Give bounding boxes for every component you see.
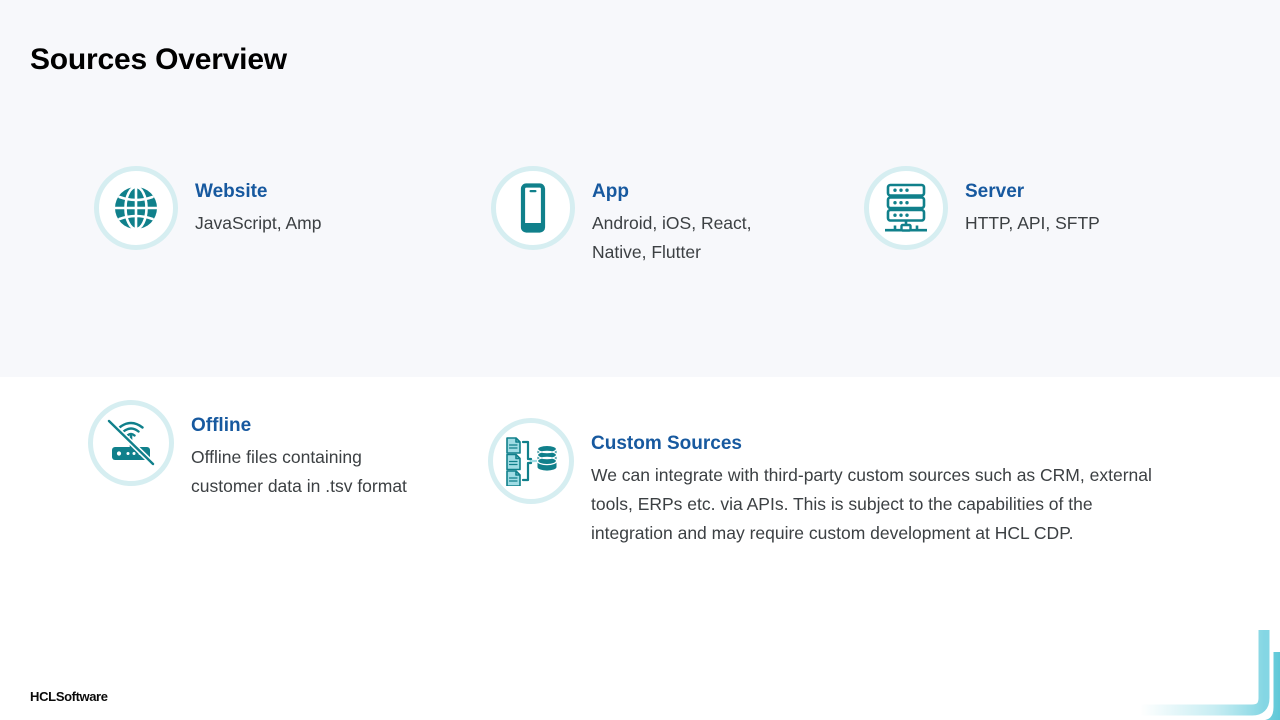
icon-circle-server [864, 166, 948, 250]
source-text-offline: Offline Offline files containing custome… [191, 400, 421, 501]
source-heading-server: Server [965, 180, 1265, 203]
icon-circle-website [94, 166, 178, 250]
source-description-app: Android, iOS, React, Native, Flutter [592, 209, 797, 267]
source-text-server: Server HTTP, API, SFTP [965, 166, 1265, 238]
source-heading-custom-sources: Custom Sources [591, 432, 1166, 455]
source-text-app: App Android, iOS, React, Native, Flutter [592, 166, 797, 267]
globe-icon [112, 184, 160, 232]
page-title: Sources Overview [30, 40, 287, 80]
source-description-offline: Offline files containing customer data i… [191, 443, 421, 501]
source-description-website: JavaScript, Amp [195, 209, 525, 238]
logo-text-hcl: HCL [30, 689, 56, 704]
source-text-website: Website JavaScript, Amp [195, 166, 525, 238]
source-text-custom-sources: Custom Sources We can integrate with thi… [591, 418, 1166, 548]
source-heading-offline: Offline [191, 414, 421, 437]
server-rack-icon [881, 182, 931, 234]
source-item-app: App Android, iOS, React, Native, Flutter [491, 166, 841, 267]
icon-circle-app [491, 166, 575, 250]
slide-canvas: Sources Overview Website JavaScript, [0, 0, 1280, 720]
wifi-offline-router-icon [105, 419, 157, 467]
hcl-software-logo: HCLSoftware [30, 688, 108, 705]
source-item-server: Server HTTP, API, SFTP [864, 166, 1244, 250]
documents-to-database-icon [504, 436, 558, 486]
source-item-custom-sources: Custom Sources We can integrate with thi… [488, 418, 1178, 548]
source-item-website: Website JavaScript, Amp [94, 166, 474, 250]
source-description-server: HTTP, API, SFTP [965, 209, 1265, 238]
source-item-offline: Offline Offline files containing custome… [88, 400, 468, 501]
logo-text-software: Software [56, 689, 108, 704]
source-heading-app: App [592, 180, 797, 203]
icon-circle-custom-sources [488, 418, 574, 504]
source-description-custom-sources: We can integrate with third-party custom… [591, 461, 1166, 548]
mobile-phone-icon [510, 183, 556, 233]
icon-circle-offline [88, 400, 174, 486]
source-heading-website: Website [195, 180, 525, 203]
